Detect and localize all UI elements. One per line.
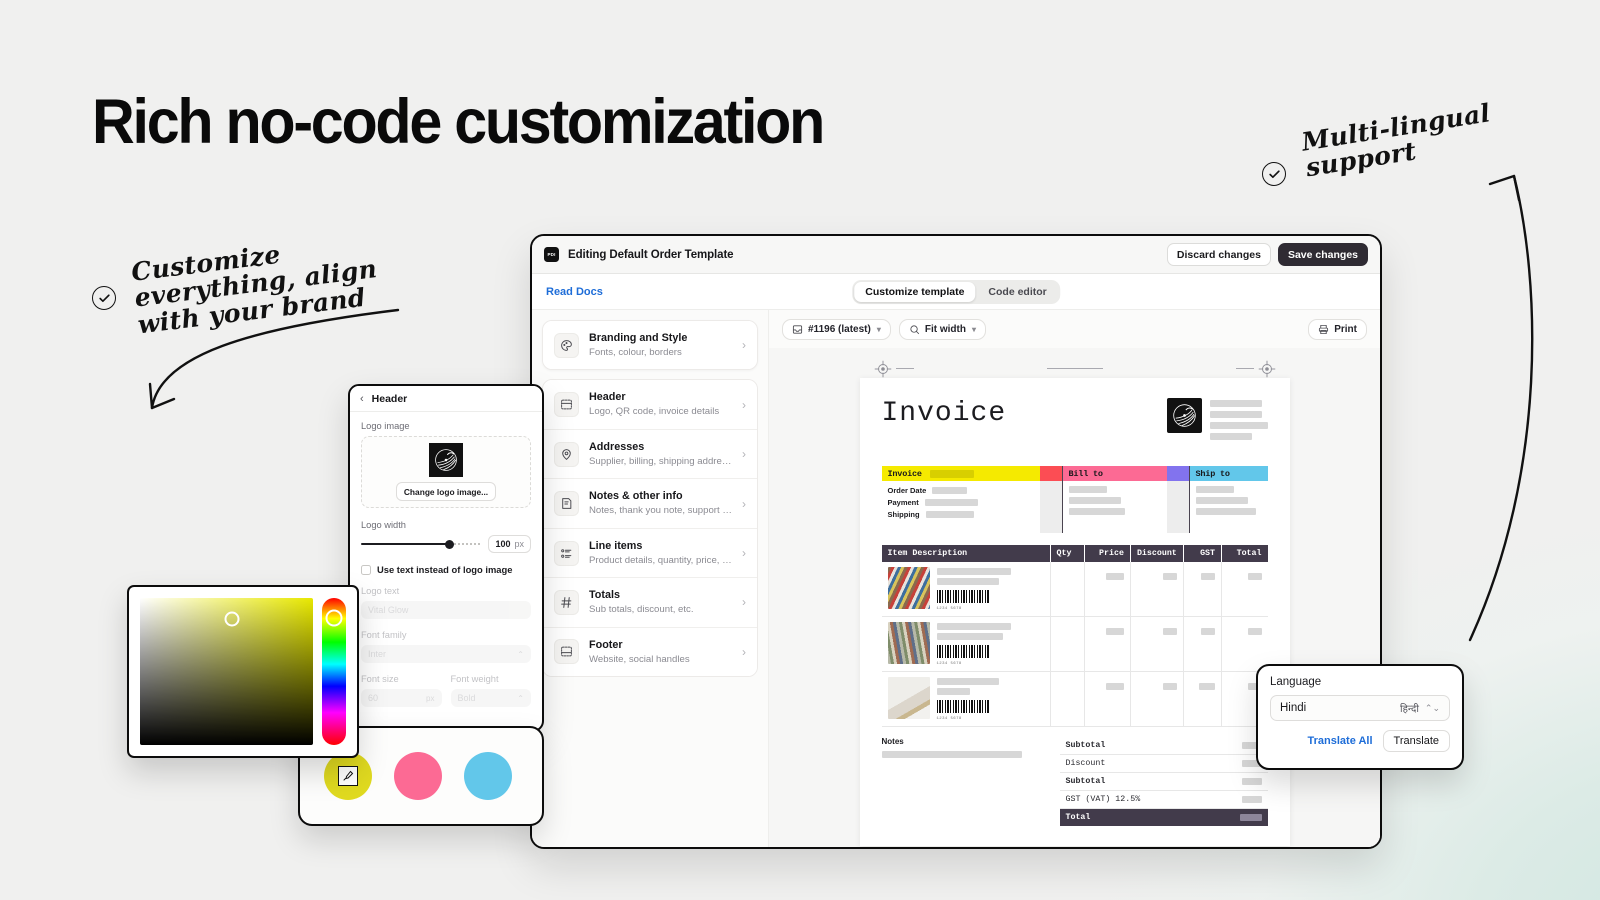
product-thumbnail: [888, 677, 930, 719]
logo-width-input[interactable]: 100 px: [488, 535, 531, 553]
crop-line: [1047, 368, 1103, 369]
product-thumbnail: [888, 567, 930, 609]
product-thumbnail: [888, 622, 930, 664]
app-subbar: Read Docs Customize template Code editor: [532, 274, 1380, 310]
line-items-table: Item Description Qty Price Discount GST …: [882, 545, 1268, 727]
preview-scroll-area[interactable]: Invoice: [769, 348, 1380, 847]
sidebar-item-subtitle: Notes, thank you note, support email: [589, 504, 732, 517]
font-family-label: Font family: [361, 630, 531, 640]
logo-image-label: Logo image: [361, 421, 531, 431]
font-size-unit: px: [426, 694, 434, 703]
invoice-totals: Subtotal Discount Subtotal GST (VAT) 12.…: [1060, 737, 1268, 826]
font-family-select[interactable]: Inter ⌃: [361, 645, 531, 663]
sidebar-item-header[interactable]: Header Logo, QR code, invoice details ›: [543, 380, 757, 429]
print-button-label: Print: [1334, 324, 1357, 335]
chevron-right-icon: ›: [742, 546, 746, 560]
saturation-value-field[interactable]: [140, 598, 313, 745]
page-wrapper: Invoice: [860, 356, 1290, 847]
sidebar-item-subtitle: Website, social handles: [589, 653, 732, 666]
checkbox-icon: [361, 565, 371, 575]
sidebar-item-subtitle: Product details, quantity, price, etc: [589, 554, 732, 567]
app-body: Branding and Style Fonts, colour, border…: [532, 310, 1380, 847]
save-changes-button[interactable]: Save changes: [1278, 243, 1368, 266]
logo-text-group: Logo text Vital Glow Font family Inter ⌃…: [361, 586, 531, 707]
swatch-blue[interactable]: [464, 752, 512, 800]
sidebar-item-addresses[interactable]: Addresses Supplier, billing, shipping ad…: [543, 430, 757, 479]
page-headline: Rich no-code customization: [92, 86, 823, 158]
logo-width-unit: px: [514, 539, 524, 549]
sidebar-item-title: Totals: [589, 588, 732, 602]
change-logo-image-button[interactable]: Change logo image...: [396, 482, 496, 501]
sidebar-item-title: Notes & other info: [589, 489, 732, 503]
table-row: 1234 5678: [882, 562, 1268, 617]
invoice-title: Invoice: [882, 398, 1007, 429]
font-size-value: 60: [368, 693, 378, 703]
invoice-field-label: Shipping: [888, 510, 920, 519]
invoice-field-label: Order Date: [888, 486, 927, 495]
sidebar-item-title: Footer: [589, 638, 732, 652]
translate-button[interactable]: Translate: [1383, 730, 1450, 752]
invoice-logo-block: [1167, 398, 1268, 440]
font-size-input[interactable]: 60 px: [361, 689, 442, 707]
invoice-notes: Notes: [882, 737, 1050, 826]
th-qty: Qty: [1050, 545, 1084, 562]
logo-width-slider[interactable]: [361, 537, 480, 551]
saturation-handle[interactable]: [224, 611, 239, 626]
hash-icon: [554, 590, 579, 615]
translate-all-button[interactable]: Translate All: [1308, 735, 1373, 747]
totals-row-final: Total: [1060, 809, 1268, 826]
table-row: 1234 5678: [882, 672, 1268, 727]
header-panel-titlebar: ‹ Header: [350, 386, 542, 412]
annotation-customize-text: Customize everything, align with your br…: [130, 230, 382, 338]
font-weight-label: Font weight: [451, 674, 532, 684]
annotation-multilingual-text: Multi-lingual support: [1300, 100, 1496, 182]
band-divider-purple: [1167, 466, 1189, 533]
sidebar-item-title: Line items: [589, 539, 732, 553]
logo-image-dropzone[interactable]: Change logo image...: [361, 436, 531, 508]
chevron-right-icon: ›: [742, 338, 746, 352]
band-divider-red: [1040, 466, 1062, 533]
notes-label: Notes: [882, 737, 1050, 746]
chevron-right-icon: ›: [742, 595, 746, 609]
chevron-right-icon: ›: [742, 645, 746, 659]
crop-line: [1236, 368, 1254, 369]
settings-sidebar: Branding and Style Fonts, colour, border…: [532, 310, 768, 847]
sidebar-item-notes-other-info[interactable]: Notes & other info Notes, thank you note…: [543, 479, 757, 528]
font-size-label: Font size: [361, 674, 442, 684]
logo-width-control: 100 px: [361, 535, 531, 553]
font-family-value: Inter: [368, 649, 386, 659]
sidebar-item-title: Header: [589, 390, 732, 404]
th-item-description: Item Description: [882, 545, 1051, 562]
chevron-updown-icon: ⌃: [517, 694, 524, 703]
app-title: Editing Default Order Template: [568, 249, 733, 261]
zoom-selector-label: Fit width: [925, 324, 966, 335]
totals-label: Discount: [1066, 759, 1106, 768]
font-size-weight-group: Font size 60 px Font weight Bold ⌃: [361, 674, 531, 707]
sidebar-item-subtitle: Fonts, colour, borders: [589, 346, 732, 359]
tab-code-editor[interactable]: Code editor: [977, 282, 1057, 302]
totals-label: Total: [1066, 813, 1091, 822]
use-text-instead-label: Use text instead of logo image: [377, 564, 512, 575]
hue-slider[interactable]: [322, 598, 346, 745]
barcode-number: 1234 5678: [937, 717, 1044, 721]
company-details-placeholder: [1210, 398, 1268, 440]
language-select[interactable]: Hindi हिन्दी ⌃⌄: [1270, 695, 1450, 721]
chevron-right-icon: ›: [742, 447, 746, 461]
chevron-down-icon: ▾: [877, 325, 881, 334]
use-text-instead-checkbox[interactable]: Use text instead of logo image: [361, 564, 531, 575]
document-selector[interactable]: #1196 (latest) ▾: [782, 319, 891, 340]
barcode-number: 1234 5678: [937, 607, 1044, 611]
registration-marks: [860, 356, 1290, 378]
sidebar-item-subtitle: Supplier, billing, shipping addresses: [589, 455, 732, 468]
th-gst: GST: [1183, 545, 1221, 562]
language-label: Language: [1270, 676, 1450, 688]
table-header-row: Item Description Qty Price Discount GST …: [882, 545, 1268, 562]
crop-line: [896, 368, 914, 369]
location-pin-icon: [554, 442, 579, 467]
swatch-yellow[interactable]: [324, 752, 372, 800]
logo-width-label: Logo width: [361, 520, 531, 530]
header-layout-icon: [554, 392, 579, 417]
list-items-icon: [554, 541, 579, 566]
logo-text-label: Logo text: [361, 586, 531, 596]
header-panel-body: Logo image Change logo image... Logo wid…: [350, 412, 542, 716]
totals-row: Subtotal: [1060, 773, 1268, 791]
hue-handle[interactable]: [326, 609, 343, 626]
chevron-right-icon: ›: [742, 497, 746, 511]
sidebar-item-subtitle: Logo, QR code, invoice details: [589, 405, 732, 418]
language-value: Hindi: [1280, 702, 1306, 714]
band-bill-to: Bill to: [1063, 466, 1167, 533]
read-docs-link[interactable]: Read Docs: [546, 286, 603, 298]
totals-row: Subtotal: [1060, 737, 1268, 755]
zoom-selector[interactable]: Fit width ▾: [899, 319, 986, 340]
eyedropper-icon: [338, 766, 358, 786]
totals-label: Subtotal: [1066, 777, 1106, 786]
font-weight-value: Bold: [458, 693, 476, 703]
chevron-left-icon[interactable]: ‹: [360, 393, 364, 405]
view-mode-tabs: Customize template Code editor: [852, 280, 1060, 304]
language-native-name: हिन्दी: [1400, 701, 1419, 715]
totals-row: GST (VAT) 12.5%: [1060, 791, 1268, 809]
titlebar-actions: Discard changes Save changes: [1167, 243, 1368, 266]
band-invoice: Invoice Order Date Payment Shipping: [882, 466, 1040, 533]
check-circle-icon: [1262, 162, 1286, 186]
color-picker-popup: [127, 585, 359, 758]
discard-changes-button[interactable]: Discard changes: [1167, 243, 1271, 266]
chevron-updown-icon: ⌃⌄: [1425, 703, 1440, 714]
band-label: Bill to: [1069, 469, 1103, 479]
tab-customize-template[interactable]: Customize template: [854, 282, 975, 302]
sidebar-item-branding-and-style[interactable]: Branding and Style Fonts, colour, border…: [543, 321, 757, 369]
header-panel-title: Header: [372, 393, 408, 405]
app-window: PDI Editing Default Order Template Disca…: [530, 234, 1382, 849]
sidebar-item-footer[interactable]: Footer Website, social handles ›: [543, 628, 757, 676]
totals-row: Discount: [1060, 755, 1268, 773]
invoice-page: Invoice: [860, 378, 1290, 846]
language-popup: Language Hindi हिन्दी ⌃⌄ Translate All T…: [1256, 664, 1464, 770]
company-logo-icon: [1167, 398, 1202, 433]
registration-mark-icon: [1258, 360, 1276, 378]
logo-preview-icon: [429, 443, 463, 477]
sidebar-item-subtitle: Sub totals, discount, etc.: [589, 603, 732, 616]
logo-text-input[interactable]: Vital Glow: [361, 601, 531, 619]
th-discount: Discount: [1130, 545, 1183, 562]
band-label: Invoice: [888, 469, 922, 479]
barcode-icon: [937, 700, 989, 713]
header-settings-panel: ‹ Header Logo image Change logo image...…: [348, 384, 544, 732]
chevron-right-icon: ›: [742, 398, 746, 412]
barcode-icon: [937, 645, 989, 658]
brand-palette-icon: [554, 333, 579, 358]
chevron-down-icon: ▾: [972, 325, 976, 334]
invoice-field-label: Payment: [888, 498, 919, 507]
swatch-pink[interactable]: [394, 752, 442, 800]
th-total: Total: [1222, 545, 1268, 562]
sidebar-item-line-items[interactable]: Line items Product details, quantity, pr…: [543, 529, 757, 578]
logo-text-value: Vital Glow: [368, 605, 408, 615]
barcode-number: 1234 5678: [937, 662, 1044, 666]
sidebar-card-featured: Branding and Style Fonts, colour, border…: [542, 320, 758, 370]
slider-handle[interactable]: [445, 540, 454, 549]
check-circle-icon: [92, 286, 116, 310]
print-button[interactable]: Print: [1308, 319, 1367, 340]
sidebar-item-title: Addresses: [589, 440, 732, 454]
language-actions: Translate All Translate: [1270, 730, 1450, 752]
invoice-bands: Invoice Order Date Payment Shipping: [882, 466, 1268, 533]
registration-mark-icon: [874, 360, 892, 378]
totals-label: Subtotal: [1066, 741, 1106, 750]
sidebar-item-totals[interactable]: Totals Sub totals, discount, etc. ›: [543, 578, 757, 627]
band-ship-to: Ship to: [1190, 466, 1268, 533]
invoice-header: Invoice: [882, 398, 1268, 440]
app-logo-icon: PDI: [544, 247, 559, 262]
barcode-icon: [937, 590, 989, 603]
chevron-updown-icon: ⌃: [517, 650, 524, 659]
invoice-bottom: Notes Subtotal Discount Subtotal GST (VA…: [882, 737, 1268, 826]
preview-toolbar: #1196 (latest) ▾ Fit width ▾ Print: [769, 310, 1380, 348]
sidebar-card-sections: Header Logo, QR code, invoice details › …: [542, 379, 758, 677]
band-label: Ship to: [1196, 469, 1230, 479]
logo-width-value: 100: [495, 539, 510, 549]
app-titlebar: PDI Editing Default Order Template Disca…: [532, 236, 1380, 274]
table-row: 1234 5678: [882, 617, 1268, 672]
totals-label: GST (VAT) 12.5%: [1066, 795, 1141, 804]
arrow-to-language-popup: [1382, 170, 1552, 690]
note-icon: [554, 491, 579, 516]
document-selector-label: #1196 (latest): [808, 324, 871, 335]
th-price: Price: [1084, 545, 1130, 562]
footer-layout-icon: [554, 639, 579, 664]
sidebar-item-title: Branding and Style: [589, 331, 732, 345]
font-weight-select[interactable]: Bold ⌃: [451, 689, 532, 707]
